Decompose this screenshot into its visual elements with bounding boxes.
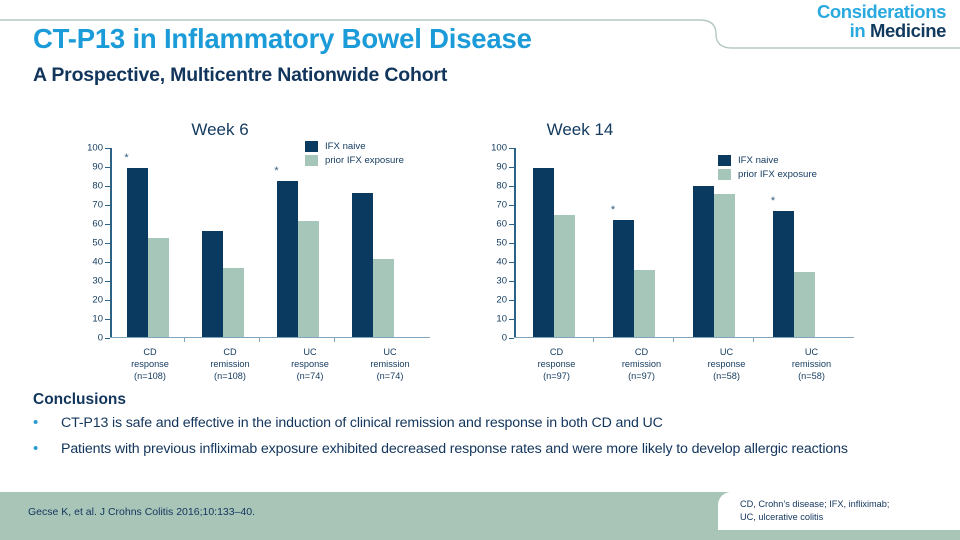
list-item: • CT-P13 is safe and effective in the in…	[33, 414, 923, 433]
list-item: • Patients with previous infliximab expo…	[33, 440, 923, 459]
x-tick-labels-week-6: CDresponse(n=108)CDremission(n=108)UCres…	[110, 338, 430, 382]
bar-ifx-naive	[693, 186, 714, 336]
bar-ifx-naive	[352, 193, 373, 336]
legend-label-ifx-naive: IFX naive	[325, 141, 366, 152]
abbreviations-line-2: UC, ulcerative colitis	[740, 511, 889, 524]
x-tick-label: UCresponse(n=74)	[270, 346, 350, 382]
chart-title-week-6: Week 6	[20, 120, 420, 140]
x-tick-labels-week-14: CDresponse(n=97)CDremission(n=97)UCrespo…	[514, 338, 854, 382]
page-title: CT-P13 in Inflammatory Bowel Disease	[33, 23, 532, 55]
bar-series-week-6: **	[110, 148, 410, 337]
abbreviations-box: CD, Crohn’s disease; IFX, infliximab; UC…	[718, 492, 960, 530]
bar-ifx-naive	[613, 220, 634, 337]
significance-asterisk: *	[752, 196, 794, 207]
conclusions-heading: Conclusions	[33, 391, 126, 409]
bar-ifx-naive	[277, 181, 298, 337]
legend-swatch-navy-icon	[718, 155, 731, 166]
legend-item-prior-ifx: prior IFX exposure	[305, 155, 404, 166]
bar-group: *	[260, 148, 335, 337]
bar-prior-ifx	[714, 194, 735, 337]
bullet-dot-icon: •	[33, 414, 61, 433]
chart-week-14: Week 14 1009080706050403020100 ** CDresp…	[460, 120, 880, 390]
bar-group	[185, 148, 260, 337]
chart-title-week-14: Week 14	[370, 120, 790, 140]
x-tick-label: CDremission(n=97)	[599, 346, 684, 382]
conclusion-text-2: Patients with previous infliximab exposu…	[61, 440, 848, 459]
bar-prior-ifx	[634, 270, 655, 337]
abbreviations-text: CD, Crohn’s disease; IFX, infliximab; UC…	[740, 498, 889, 525]
bullet-dot-icon: •	[33, 440, 61, 459]
logo-word-in: in	[850, 20, 870, 41]
plot-area-week-6: 1009080706050403020100 ** CDresponse(n=1…	[110, 148, 410, 338]
legend-swatch-sage-icon	[305, 155, 318, 166]
bar-group	[335, 148, 410, 337]
legend-swatch-navy-icon	[305, 141, 318, 152]
bar-ifx-naive	[773, 211, 794, 336]
significance-asterisk: *	[256, 166, 298, 177]
bar-prior-ifx	[554, 215, 575, 337]
bar-group	[514, 148, 594, 337]
logo-word-medicine: Medicine	[870, 20, 946, 41]
legend-item-prior-ifx-2: prior IFX exposure	[718, 169, 817, 180]
bar-group: *	[110, 148, 185, 337]
bar-group: *	[594, 148, 674, 337]
citation-text: Gecse K, et al. J Crohns Colitis 2016;10…	[28, 506, 255, 518]
x-tick-label: CDremission(n=108)	[190, 346, 270, 382]
conclusion-text-1: CT-P13 is safe and effective in the indu…	[61, 414, 663, 433]
bar-prior-ifx	[373, 259, 394, 336]
x-tick-label: UCresponse(n=58)	[684, 346, 769, 382]
x-tick-label: CDresponse(n=108)	[110, 346, 190, 382]
x-tick-label: UCremission(n=74)	[350, 346, 430, 382]
legend-label-prior-ifx-2: prior IFX exposure	[738, 169, 817, 180]
legend-label-prior-ifx: prior IFX exposure	[325, 155, 404, 166]
legend-week-14: IFX naive prior IFX exposure	[718, 155, 817, 183]
conclusions-list: • CT-P13 is safe and effective in the in…	[33, 414, 923, 466]
legend-item-ifx-naive-2: IFX naive	[718, 155, 817, 166]
slide-root: Considerations in Medicine CT-P13 in Inf…	[0, 0, 960, 540]
bar-ifx-naive	[533, 168, 554, 336]
bar-ifx-naive	[202, 231, 223, 336]
logo-line-in-medicine: in Medicine	[817, 22, 946, 41]
bar-prior-ifx	[148, 238, 169, 337]
legend-label-ifx-naive-2: IFX naive	[738, 155, 779, 166]
x-tick-label: CDresponse(n=97)	[514, 346, 599, 382]
brand-logo: Considerations in Medicine	[817, 3, 946, 41]
bar-ifx-naive	[127, 168, 148, 336]
legend-week-6: IFX naive prior IFX exposure	[305, 141, 404, 169]
page-subtitle: A Prospective, Multicentre Nationwide Co…	[33, 64, 447, 87]
legend-swatch-sage-icon	[718, 169, 731, 180]
legend-item-ifx-naive: IFX naive	[305, 141, 404, 152]
abbreviations-line-1: CD, Crohn’s disease; IFX, infliximab;	[740, 498, 889, 511]
significance-asterisk: *	[106, 153, 148, 164]
bar-prior-ifx	[298, 221, 319, 337]
bar-prior-ifx	[223, 268, 244, 336]
x-tick-label: UCremission(n=58)	[769, 346, 854, 382]
bar-prior-ifx	[794, 272, 815, 337]
significance-asterisk: *	[592, 205, 634, 216]
